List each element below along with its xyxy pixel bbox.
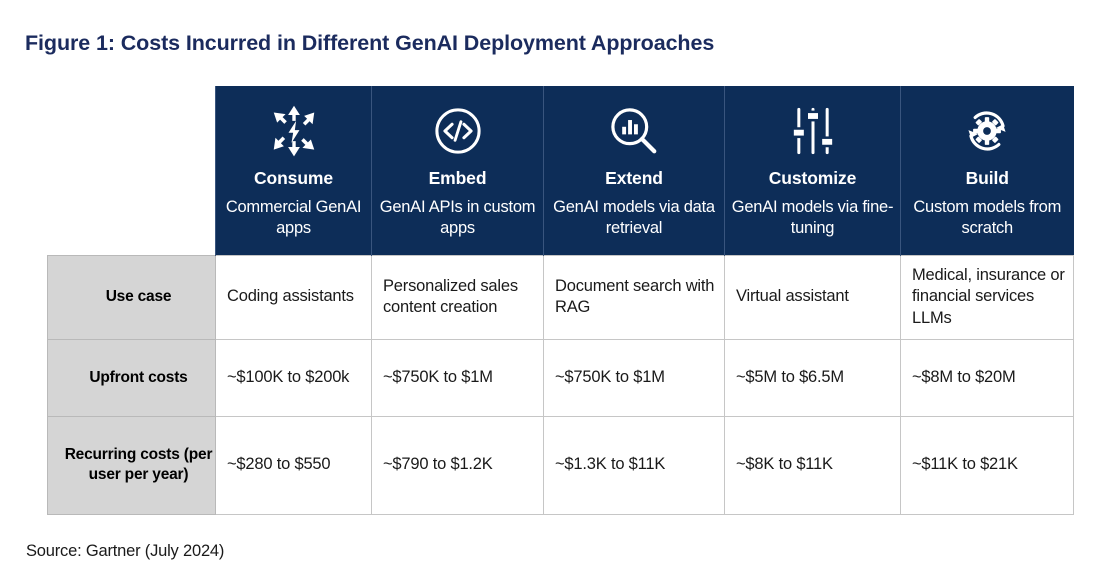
column-header-desc: GenAI APIs in custom apps: [378, 197, 537, 239]
column-header-desc: Commercial GenAI apps: [222, 197, 365, 239]
cell-recurring-consume: ~$280 to $550: [216, 416, 372, 514]
cell-upfront-consume: ~$100K to $200k: [216, 339, 372, 416]
row-header-recurring-costs: Recurring costs (per user per year): [48, 416, 216, 514]
lightning-burst-icon: [222, 100, 365, 162]
cell-use-case-build: Medical, insurance or financial services…: [901, 255, 1074, 339]
column-header-desc: GenAI models via data retrieval: [550, 197, 718, 239]
sliders-icon: [731, 100, 894, 162]
cell-recurring-customize: ~$8K to $11K: [725, 416, 901, 514]
cell-upfront-build: ~$8M to $20M: [901, 339, 1074, 416]
cell-recurring-embed: ~$790 to $1.2K: [372, 416, 544, 514]
cell-upfront-extend: ~$750K to $1M: [544, 339, 725, 416]
figure-page: Figure 1: Costs Incurred in Different Ge…: [0, 0, 1114, 576]
column-header-consume: Consume Commercial GenAI apps: [216, 86, 372, 255]
column-header-extend: Extend GenAI models via data retrieval: [544, 86, 725, 255]
column-header-name: Extend: [550, 168, 718, 189]
cell-upfront-embed: ~$750K to $1M: [372, 339, 544, 416]
table-row: Recurring costs (per user per year) ~$28…: [48, 416, 1074, 514]
cell-use-case-embed: Personalized sales content creation: [372, 255, 544, 339]
cell-use-case-customize: Virtual assistant: [725, 255, 901, 339]
table-row: Use case Coding assistants Personalized …: [48, 255, 1074, 339]
column-header-customize: Customize GenAI models via fine-tuning: [725, 86, 901, 255]
cell-use-case-extend: Document search with RAG: [544, 255, 725, 339]
cost-comparison-table: Consume Commercial GenAI apps Embed GenA…: [47, 86, 1074, 515]
header-corner-spacer: [48, 86, 216, 255]
code-brackets-circle-icon: [378, 100, 537, 162]
cell-use-case-consume: Coding assistants: [216, 255, 372, 339]
row-header-use-case: Use case: [48, 255, 216, 339]
column-header-name: Embed: [378, 168, 537, 189]
column-header-desc: GenAI models via fine-tuning: [731, 197, 894, 239]
column-header-name: Build: [907, 168, 1068, 189]
source-note: Source: Gartner (July 2024): [26, 542, 224, 561]
column-header-name: Customize: [731, 168, 894, 189]
column-header-build: Build Custom models from scratch: [901, 86, 1074, 255]
column-header-name: Consume: [222, 168, 365, 189]
table-header-row: Consume Commercial GenAI apps Embed GenA…: [48, 86, 1074, 255]
cell-recurring-build: ~$11K to $21K: [901, 416, 1074, 514]
table-row: Upfront costs ~$100K to $200k ~$750K to …: [48, 339, 1074, 416]
column-header-desc: Custom models from scratch: [907, 197, 1068, 239]
cell-upfront-customize: ~$5M to $6.5M: [725, 339, 901, 416]
column-header-embed: Embed GenAI APIs in custom apps: [372, 86, 544, 255]
page-title: Figure 1: Costs Incurred in Different Ge…: [25, 31, 714, 56]
magnifier-bar-chart-icon: [550, 100, 718, 162]
row-header-upfront-costs: Upfront costs: [48, 339, 216, 416]
gear-refresh-icon: [907, 100, 1068, 162]
cell-recurring-extend: ~$1.3K to $11K: [544, 416, 725, 514]
